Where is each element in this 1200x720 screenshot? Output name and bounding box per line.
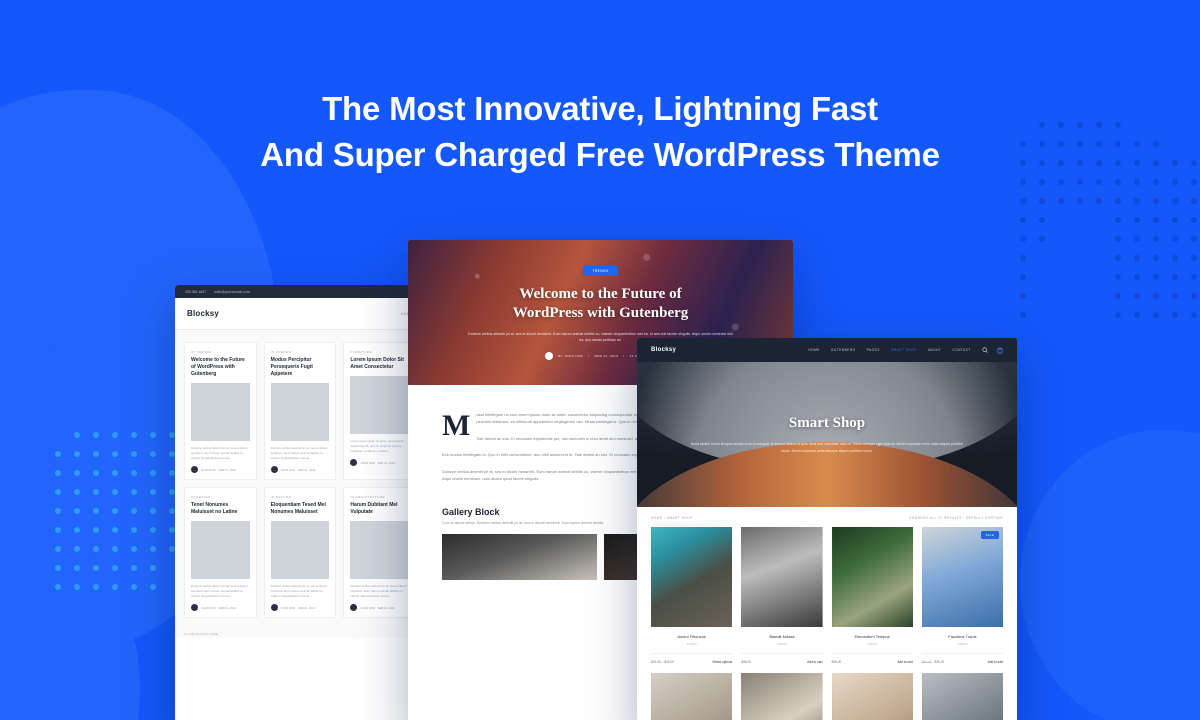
- left-post-grid: IN TRENDS Welcome to the Future of WordP…: [175, 330, 425, 630]
- nav-item-about[interactable]: ABOUT: [928, 348, 941, 352]
- hero-sep: /: [588, 354, 589, 358]
- avatar: [271, 604, 278, 611]
- blog-listing-mockup[interactable]: 035-384-4637 hello@yourdomain.com Blocks…: [175, 285, 425, 720]
- nav-item-pages[interactable]: PAGES: [867, 348, 880, 352]
- product-old-price: $55.00: [922, 660, 932, 664]
- post-category: IN ARCHITECTURE: [350, 495, 409, 499]
- product-image[interactable]: [832, 527, 913, 627]
- nav-item-home[interactable]: HOME: [808, 348, 820, 352]
- gallery-image[interactable]: [442, 534, 597, 580]
- post-title[interactable]: Welcome to the Future of WordPress with …: [191, 357, 250, 378]
- left-footer-category: IN ARCHITECTURE: [175, 630, 425, 638]
- product-footer: $45.00 Add to cart: [741, 653, 822, 664]
- sale-badge: SALE: [981, 531, 999, 539]
- post-thumbnail: [191, 521, 250, 579]
- post-date: FEB 21, 2019: [218, 468, 235, 472]
- post-date: FEB 21, 2019: [378, 606, 395, 610]
- product-image[interactable]: [651, 527, 732, 627]
- nav-item-gutenberg[interactable]: GUTENBERG: [831, 348, 856, 352]
- shop-nav-list: HOME GUTENBERG PAGES SMART SHOP ABOUT CO…: [808, 348, 971, 352]
- post-title[interactable]: Eloquentiam Tesed Mei Nonumes Maluisset: [271, 502, 330, 516]
- hero-title-line-1: Welcome to the Future of: [513, 285, 689, 304]
- hero-sep-2: /: [623, 354, 624, 358]
- product-name[interactable]: Auctor Rhoncus: [651, 634, 732, 639]
- product-card[interactable]: Elementum Tempus T-Shirts $45.00 Add to …: [832, 527, 913, 664]
- shop-results-sorting: SHOWING ALL 12 RESULTS / DEFAULT SORTING: [909, 516, 1003, 520]
- product-price: $45.00: [935, 660, 945, 664]
- post-thumbnail: [191, 383, 250, 441]
- shop-nav-icons: [982, 347, 1003, 354]
- product-category: T-Shirts: [741, 642, 822, 646]
- post-card[interactable]: IN TRENDS Modus Percipitur Persequeris F…: [264, 342, 337, 480]
- post-thumbnail: [350, 521, 409, 579]
- post-date: FEB 21, 2019: [378, 461, 395, 465]
- avatar: [350, 604, 357, 611]
- product-card[interactable]: Blandit Massa T-Shirts $45.00 Add to car…: [741, 527, 822, 664]
- product-card[interactable]: [922, 673, 1003, 720]
- search-icon[interactable]: [982, 347, 988, 353]
- shop-navbar: Blocksy HOME GUTENBERG PAGES SMART SHOP …: [637, 338, 1017, 362]
- post-date: FEB 21, 2019: [218, 606, 235, 610]
- post-card[interactable]: IN TRENDS Welcome to the Future of WordP…: [184, 342, 257, 480]
- post-excerpt: Doctore veritus deleniti pri at, sea ei …: [271, 446, 330, 461]
- dot-pattern-left: [55, 432, 188, 603]
- product-image[interactable]: [651, 673, 732, 720]
- product-card[interactable]: [741, 673, 822, 720]
- hero-date: MAR 21, 2019: [594, 354, 618, 358]
- post-meta: JOHN DOE FEB 21, 2019: [271, 604, 330, 611]
- avatar: [545, 352, 553, 360]
- product-price: $45.00: [832, 660, 842, 664]
- hero-author: BY JOHN DOE: [558, 354, 583, 358]
- post-excerpt: Doctore veritus deleniti pri at, sea ei …: [271, 584, 330, 599]
- product-card[interactable]: [832, 673, 913, 720]
- product-category: T-Shirts: [922, 642, 1003, 646]
- shop-hero-title: Smart Shop: [789, 415, 865, 432]
- post-excerpt: Doctore veritus deleniti pri at, sea ei …: [191, 446, 250, 461]
- post-meta: JOHN DOE FEB 21, 2019: [191, 466, 250, 473]
- product-card[interactable]: Auctor Rhoncus T-Shirts $32.00 – $45.00 …: [651, 527, 732, 664]
- product-category: T-Shirts: [832, 642, 913, 646]
- post-meta: JOHN DOE FEB 21, 2019: [191, 604, 250, 611]
- breadcrumb[interactable]: HOME / SMART SHOP: [651, 516, 693, 520]
- post-meta: JOHN DOE FEB 21, 2019: [350, 604, 409, 611]
- post-title[interactable]: Lorem Ipsum Dolor Sit Amet Consectetur: [350, 357, 409, 371]
- post-category: IN DESIGN: [191, 495, 250, 499]
- product-name[interactable]: Blandit Massa: [741, 634, 822, 639]
- product-action[interactable]: Add to cart: [988, 660, 1003, 664]
- product-price: $32.00 – $45.00: [651, 660, 674, 664]
- post-date: FEB 21, 2019: [298, 468, 315, 472]
- product-name[interactable]: Faucibus Turpis: [922, 634, 1003, 639]
- product-action[interactable]: Add to cart: [897, 660, 912, 664]
- post-category: IN TRENDS: [271, 350, 330, 354]
- product-image[interactable]: SALE: [922, 527, 1003, 627]
- product-price: $45.00: [741, 660, 751, 664]
- post-title[interactable]: Modus Percipitur Persequeris Fugit Appet…: [271, 357, 330, 378]
- shop-mockup[interactable]: Blocksy HOME GUTENBERG PAGES SMART SHOP …: [637, 338, 1017, 720]
- product-grid: Auctor Rhoncus T-Shirts $32.00 – $45.00 …: [637, 527, 1017, 720]
- post-thumbnail: [271, 521, 330, 579]
- post-card[interactable]: FURNITURE Lorem Ipsum Dolor Sit Amet Con…: [343, 342, 416, 480]
- product-action[interactable]: Add to cart: [807, 660, 822, 664]
- post-excerpt: Doctore veritus deleniti pri at, sea ei …: [350, 584, 409, 599]
- post-meta: JOHN DOE FEB 21, 2019: [271, 466, 330, 473]
- post-category: FURNITURE: [350, 350, 409, 354]
- post-category: IN TRENDS: [191, 350, 250, 354]
- left-brandbar: Blocksy HOME: [175, 298, 425, 330]
- article-dropcap: M: [442, 413, 470, 439]
- shop-logo[interactable]: Blocksy: [651, 347, 676, 353]
- shop-hero-subtitle: Nulla facilisi morbi tempus iaculis urna…: [689, 441, 965, 454]
- cart-icon[interactable]: [997, 347, 1003, 354]
- post-author: JOHN DOE: [360, 606, 374, 610]
- page-title: The Most Innovative, Lightning Fast And …: [0, 86, 1200, 178]
- post-card[interactable]: IN NATURE Eloquentiam Tesed Mei Nonumes …: [264, 487, 337, 618]
- product-price-wrap: $55.00$45.00: [922, 660, 945, 664]
- sorting-select[interactable]: DEFAULT SORTING: [966, 516, 1003, 520]
- post-title[interactable]: Harum Dubitant Mel Vulputate: [350, 502, 409, 516]
- left-logo[interactable]: Blocksy: [187, 309, 219, 318]
- avatar: [191, 604, 198, 611]
- post-date: FEB 21, 2019: [298, 606, 315, 610]
- post-thumbnail: [350, 376, 409, 434]
- product-footer: $55.00$45.00 Add to cart: [922, 653, 1003, 664]
- avatar: [271, 466, 278, 473]
- product-name[interactable]: Elementum Tempus: [832, 634, 913, 639]
- post-author: JOHN DOE: [201, 468, 215, 472]
- post-author: JOHN DOE: [360, 461, 374, 465]
- topbar-email: hello@yourdomain.com: [214, 290, 250, 294]
- shop-hero: Smart Shop Nulla facilisi morbi tempus i…: [637, 362, 1017, 507]
- product-image[interactable]: [832, 673, 913, 720]
- center-hero-title: Welcome to the Future of WordPress with …: [513, 285, 689, 323]
- headline-line-1: The Most Innovative, Lightning Fast: [0, 86, 1200, 132]
- shop-breadcrumb-bar: HOME / SMART SHOP SHOWING ALL 12 RESULTS…: [637, 507, 1017, 527]
- avatar: [191, 466, 198, 473]
- product-image[interactable]: [922, 673, 1003, 720]
- post-category: IN NATURE: [271, 495, 330, 499]
- post-card[interactable]: IN ARCHITECTURE Harum Dubitant Mel Vulpu…: [343, 487, 416, 618]
- product-footer: $45.00 Add to cart: [832, 653, 913, 664]
- background-blob-right: [1020, 430, 1200, 720]
- product-footer: $32.00 – $45.00 Select options: [651, 653, 732, 664]
- results-count: SHOWING ALL 12 RESULTS: [909, 516, 962, 520]
- post-author: JOHN DOE: [281, 606, 295, 610]
- post-author: JOHN DOE: [201, 606, 215, 610]
- product-card[interactable]: [651, 673, 732, 720]
- post-excerpt: Doctore veritus deleniti pri at, sea ei …: [191, 584, 250, 599]
- product-image[interactable]: [741, 673, 822, 720]
- post-excerpt: Lorem ipsum dolor sit amet, consectetur …: [350, 439, 409, 454]
- hero-title-line-2: WordPress with Gutenberg: [513, 304, 689, 323]
- post-meta: JOHN DOE FEB 21, 2019: [350, 459, 409, 466]
- hero-category-badge[interactable]: TRENDS: [583, 266, 617, 276]
- left-topbar: 035-384-4637 hello@yourdomain.com: [175, 285, 425, 298]
- headline-line-2: And Super Charged Free WordPress Theme: [0, 132, 1200, 178]
- product-action[interactable]: Select options: [712, 660, 732, 664]
- post-thumbnail: [271, 383, 330, 441]
- topbar-phone: 035-384-4637: [185, 290, 206, 294]
- product-category: T-Shirts: [651, 642, 732, 646]
- post-card[interactable]: IN DESIGN Tenet Nonumes Maluisset no Lat…: [184, 487, 257, 618]
- product-image[interactable]: [741, 527, 822, 627]
- post-author: JOHN DOE: [281, 468, 295, 472]
- post-title[interactable]: Tenet Nonumes Maluisset no Latine: [191, 502, 250, 516]
- nav-item-contact[interactable]: CONTACT: [952, 348, 971, 352]
- avatar: [350, 459, 357, 466]
- product-card[interactable]: SALE Faucibus Turpis T-Shirts $55.00$45.…: [922, 527, 1003, 664]
- nav-item-smart-shop[interactable]: SMART SHOP: [891, 348, 917, 352]
